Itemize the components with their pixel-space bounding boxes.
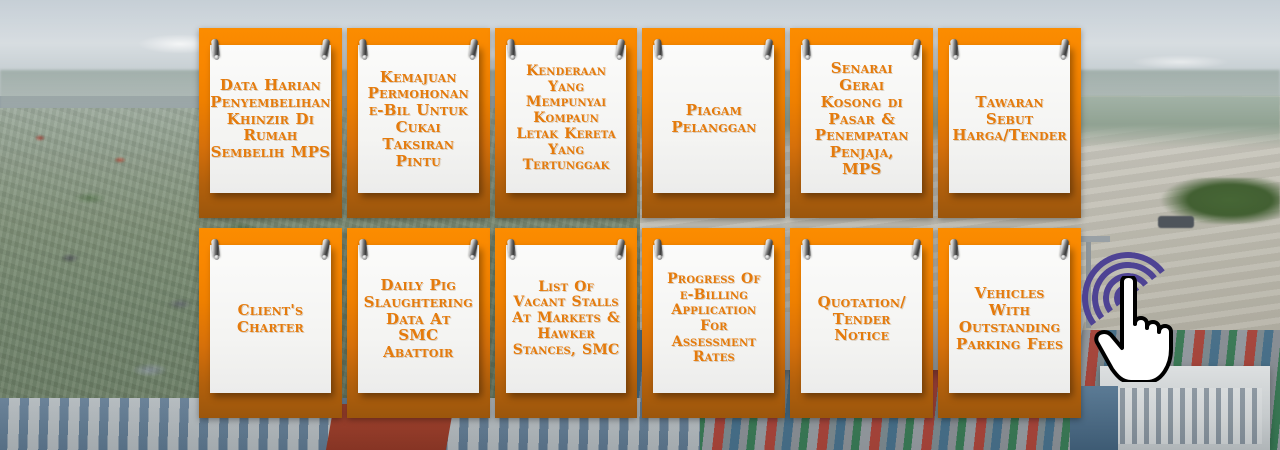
card-title: Data Harian Penyembelihan Khinzir Di Rum… (210, 77, 330, 161)
binder-clip-icon (802, 239, 811, 258)
binder-clip-icon (616, 39, 625, 58)
binder-clip-icon (321, 239, 330, 258)
card-row-1: Data Harian Penyembelihan Khinzir Di Rum… (199, 28, 1081, 218)
page-root: Data Harian Penyembelihan Khinzir Di Rum… (0, 0, 1280, 450)
card-sheet: Senarai Gerai Kosong di Pasar & Penempat… (801, 45, 922, 193)
card-sheet: Tawaran Sebut Harga/Tender (949, 45, 1070, 193)
binder-clip-icon (507, 39, 516, 58)
card-sheet: Daily Pig Slaughtering Data At SMC Abatt… (358, 245, 479, 393)
card-title: Piagam Pelanggan (659, 102, 768, 136)
card-row-2: Client's Charter Daily Pig Slaughtering … (199, 228, 1081, 418)
white-building (1100, 366, 1270, 450)
card-title: Kemajuan Permohonan e-Bil Untuk Cukai Ta… (364, 69, 473, 170)
card-sheet: Kemajuan Permohonan e-Bil Untuk Cukai Ta… (358, 45, 479, 193)
card-title: Daily Pig Slaughtering Data At SMC Abatt… (364, 277, 473, 361)
card-sheet: List Of Vacant Stalls At Markets & Hawke… (506, 245, 627, 393)
binder-clip-icon (359, 239, 368, 258)
card-senarai-gerai-kosong[interactable]: Senarai Gerai Kosong di Pasar & Penempat… (790, 28, 933, 218)
binder-clip-icon (764, 39, 773, 58)
binder-clip-icon (912, 39, 921, 58)
card-title: List Of Vacant Stalls At Markets & Hawke… (512, 280, 621, 358)
card-title: Senarai Gerai Kosong di Pasar & Penempat… (807, 60, 916, 178)
card-title: Quotation/ Tender Notice (807, 294, 916, 344)
card-sheet: Data Harian Penyembelihan Khinzir Di Rum… (210, 45, 331, 193)
binder-clip-icon (507, 239, 516, 258)
binder-clip-icon (616, 239, 625, 258)
binder-clip-icon (654, 39, 663, 58)
binder-clip-icon (1060, 39, 1069, 58)
card-title: Vehicles With Outstanding Parking Fees (955, 285, 1064, 352)
card-piagam-pelanggan[interactable]: Piagam Pelanggan (642, 28, 785, 218)
binder-clip-icon (1060, 239, 1069, 258)
card-vehicles-with-outstanding-parking-fees[interactable]: Vehicles With Outstanding Parking Fees (938, 228, 1081, 418)
river-barge (1158, 216, 1194, 228)
binder-clip-icon (764, 239, 773, 258)
dataset-card-grid: Data Harian Penyembelihan Khinzir Di Rum… (199, 28, 1081, 418)
binder-clip-icon (950, 39, 959, 58)
card-title: Client's Charter (216, 302, 325, 336)
card-sheet: Vehicles With Outstanding Parking Fees (949, 245, 1070, 393)
binder-clip-icon (469, 239, 478, 258)
card-quotation-tender-notice[interactable]: Quotation/ Tender Notice (790, 228, 933, 418)
binder-clip-icon (802, 39, 811, 58)
binder-clip-icon (469, 39, 478, 58)
card-kenderaan-kompaun-letak-kereta[interactable]: Kenderaan Yang Mempunyai Kompaun Letak K… (495, 28, 638, 218)
card-sheet: Kenderaan Yang Mempunyai Kompaun Letak K… (506, 45, 627, 193)
card-title: Progress Of e-Billing Application For As… (659, 272, 768, 366)
binder-clip-icon (211, 239, 220, 258)
binder-clip-icon (359, 39, 368, 58)
card-sheet: Quotation/ Tender Notice (801, 245, 922, 393)
card-sheet: Client's Charter (210, 245, 331, 393)
card-daily-pig-slaughtering-data[interactable]: Daily Pig Slaughtering Data At SMC Abatt… (347, 228, 490, 418)
card-title: Tawaran Sebut Harga/Tender (952, 94, 1066, 144)
binder-clip-icon (950, 239, 959, 258)
binder-clip-icon (211, 39, 220, 58)
card-list-of-vacant-stalls[interactable]: List Of Vacant Stalls At Markets & Hawke… (495, 228, 638, 418)
card-progress-of-ebilling-application[interactable]: Progress Of e-Billing Application For As… (642, 228, 785, 418)
port-crane (1086, 236, 1091, 328)
binder-clip-icon (654, 239, 663, 258)
binder-clip-icon (912, 239, 921, 258)
card-sheet: Progress Of e-Billing Application For As… (653, 245, 774, 393)
card-title: Kenderaan Yang Mempunyai Kompaun Letak K… (512, 64, 621, 174)
card-tawaran-sebut-harga-tender[interactable]: Tawaran Sebut Harga/Tender (938, 28, 1081, 218)
binder-clip-icon (321, 39, 330, 58)
card-data-harian-penyembelihan[interactable]: Data Harian Penyembelihan Khinzir Di Rum… (199, 28, 342, 218)
card-clients-charter[interactable]: Client's Charter (199, 228, 342, 418)
card-kemajuan-permohonan-ebil[interactable]: Kemajuan Permohonan e-Bil Untuk Cukai Ta… (347, 28, 490, 218)
card-sheet: Piagam Pelanggan (653, 45, 774, 193)
